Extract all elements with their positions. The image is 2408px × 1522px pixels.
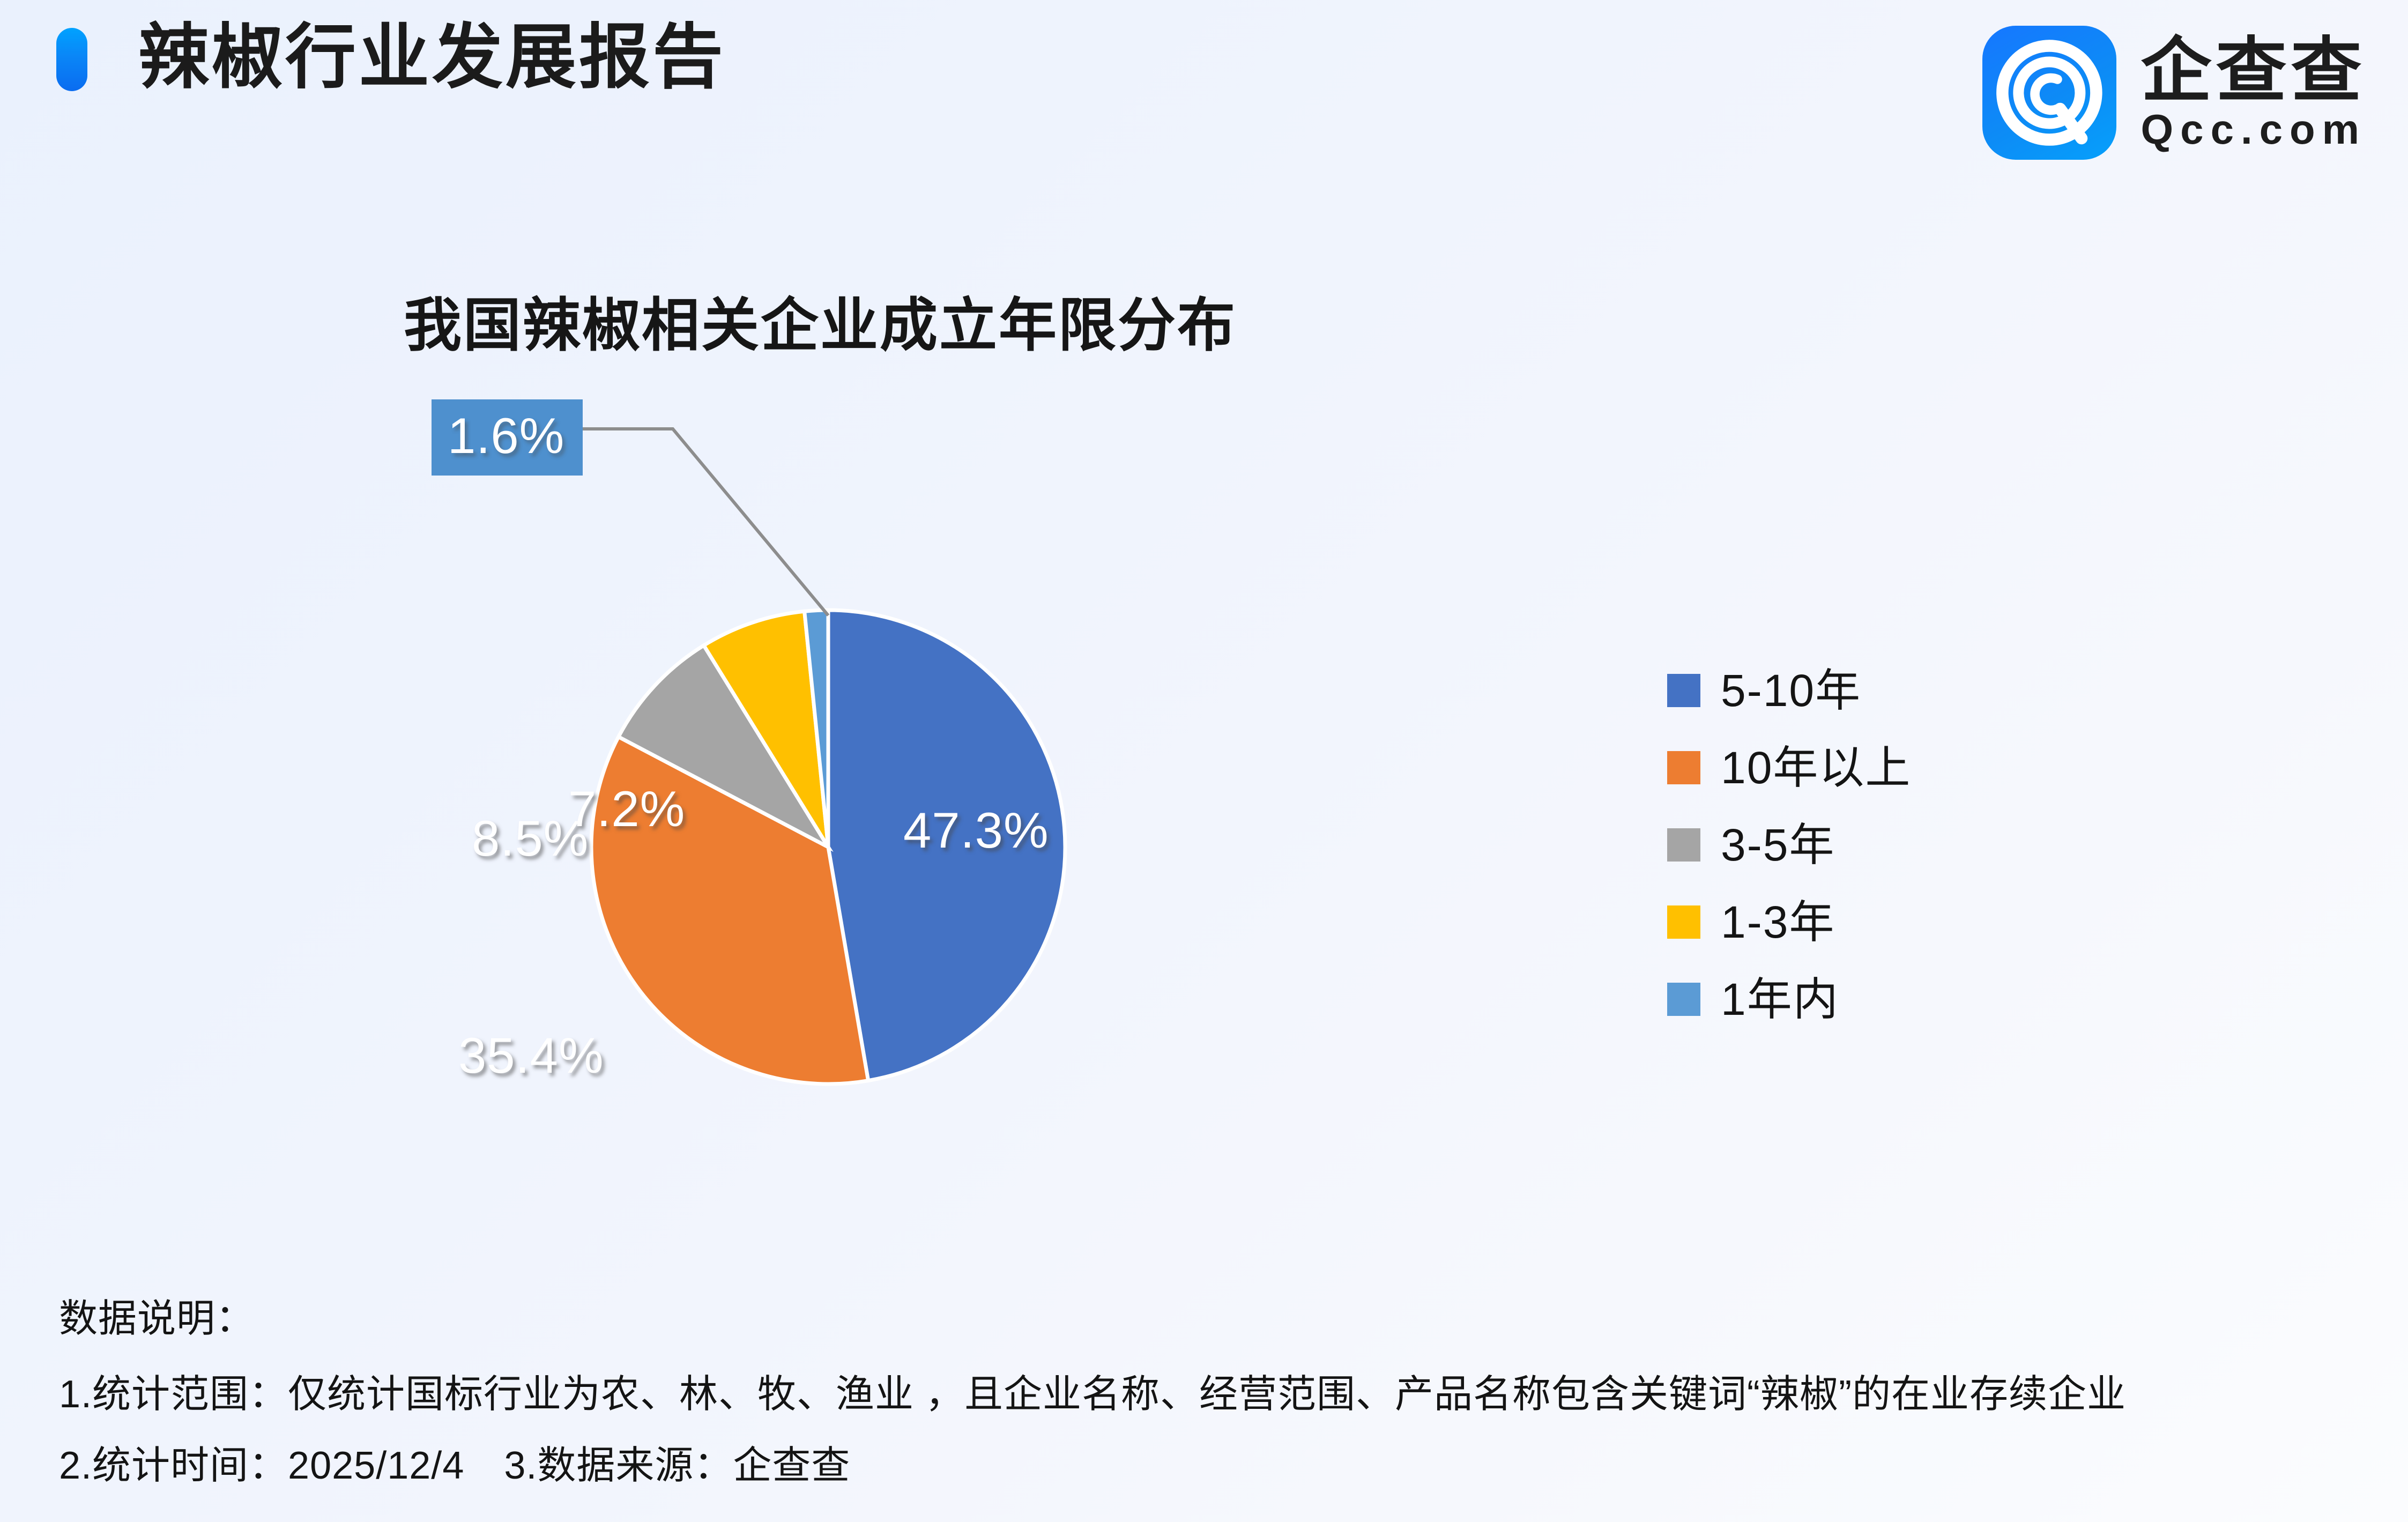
slice-label-1-3: 7.2% (568, 780, 685, 838)
page-title: 辣椒行业发展报告 (138, 15, 726, 100)
legend-label: 5-10年 (1721, 668, 1861, 713)
legend-item[interactable]: 5-10年 (1667, 665, 1911, 716)
legend-item[interactable]: 1年内 (1667, 974, 1911, 1025)
qcc-logo-icon (1982, 26, 2116, 160)
legend-label: 3-5年 (1721, 822, 1835, 867)
footnote-scope: 1.统计范围：仅统计国标行业为农、林、牧、渔业 ，且企业名称、经营范围、产品名称… (59, 1362, 2364, 1419)
legend-label: 1年内 (1721, 977, 1839, 1022)
footnotes: 数据说明： 1.统计范围：仅统计国标行业为农、林、牧、渔业 ，且企业名称、经营范… (59, 1287, 2364, 1505)
slice-label-10-plus: 35.4% (458, 1027, 604, 1085)
legend-item[interactable]: 1-3年 (1667, 896, 1911, 948)
slice-callout-under-1: 1.6% (432, 399, 583, 476)
footnote-source: 3.数据来源：企查查 (504, 1444, 850, 1487)
legend-swatch-icon (1667, 905, 1700, 939)
chart-legend: 5-10年 10年以上 3-5年 1-3年 1年内 (1667, 665, 1911, 1025)
footnote-time-source: 2.统计时间：2025/12/43.数据来源：企查查 (59, 1434, 2364, 1490)
brand-name-cn: 企查查 (2141, 35, 2366, 106)
slice-label-5-10: 47.3% (903, 801, 1049, 859)
legend-swatch-icon (1667, 828, 1700, 862)
footnote-time: 2.统计时间：2025/12/4 (59, 1444, 464, 1487)
legend-swatch-icon (1667, 674, 1700, 707)
legend-swatch-icon (1667, 983, 1700, 1016)
footnote-heading: 数据说明： (59, 1287, 2364, 1343)
legend-item[interactable]: 10年以上 (1667, 742, 1911, 793)
legend-label: 10年以上 (1721, 745, 1911, 790)
legend-item[interactable]: 3-5年 (1667, 819, 1911, 871)
title-accent-bar (56, 28, 87, 91)
legend-label: 1-3年 (1721, 900, 1835, 945)
page-header: 辣椒行业发展报告 企查查 Qcc.com (0, 0, 2408, 214)
brand-logo[interactable]: 企查查 Qcc.com (1982, 26, 2366, 160)
chart-title: 我国辣椒相关企业成立年限分布 (0, 279, 1640, 362)
pie-chart: 47.3% 35.4% 8.5% 7.2% 1.6% (587, 606, 1069, 1088)
legend-swatch-icon (1667, 751, 1700, 784)
brand-name-en: Qcc.com (2141, 108, 2366, 150)
